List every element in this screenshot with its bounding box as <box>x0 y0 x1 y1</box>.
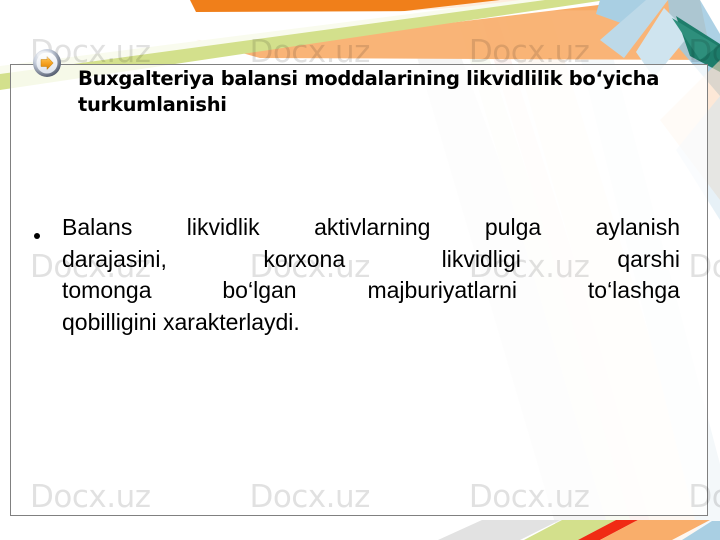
body-text: Balanslikvidlikaktivlarningpulgaaylanish… <box>62 212 680 338</box>
body-word: qarshi <box>617 244 680 276</box>
band-bottom-blue-2 <box>682 521 720 540</box>
body-line: qobilligini xarakterlaydi. <box>62 307 680 339</box>
body-word: likvidlik <box>187 212 260 244</box>
body-word: darajasini, <box>62 244 167 276</box>
wedge-blue-2 <box>600 0 668 58</box>
body-bullet-item: Balanslikvidlikaktivlarningpulgaaylanish… <box>34 212 680 338</box>
body-word: aktivlarning <box>314 212 430 244</box>
body-word: to‘lashga <box>588 275 680 307</box>
body-word: likvidligi <box>442 244 521 276</box>
body-word: tomonga <box>62 275 152 307</box>
band-bottom-orange <box>600 520 710 540</box>
body-word: majburiyatlarni <box>367 275 517 307</box>
body-word: pulga <box>485 212 541 244</box>
band-top-white-wedge <box>150 0 640 48</box>
band-top-orange-dark <box>190 0 660 12</box>
slide-title: Buxgalteriya balansi moddalarining likvi… <box>78 66 690 118</box>
body-line: tomongabo‘lganmajburiyatlarnito‘lashga <box>62 275 680 307</box>
band-bottom-green <box>524 520 616 540</box>
body-word: aylanish <box>596 212 680 244</box>
band-bottom-red <box>578 520 638 540</box>
body-line: darajasini,korxonalikvidligiqarshi <box>62 244 680 276</box>
body-word: korxona <box>263 244 345 276</box>
arrow-right-circle-icon <box>32 48 62 78</box>
wedge-blue-1 <box>596 0 660 30</box>
band-bottom-blue <box>684 520 720 540</box>
wedge-teal-sliver <box>672 18 718 60</box>
body-line: Balanslikvidlikaktivlarningpulgaaylanish <box>62 212 680 244</box>
band-top-green-white <box>0 0 545 74</box>
slide-canvas: Docx.uz Docx.uz Docx.uz Docx.uz Docx.uz … <box>0 0 720 540</box>
band-top-orange-light <box>196 0 712 60</box>
bullet-marker <box>34 212 62 243</box>
body-word: Balans <box>62 212 132 244</box>
body-word: bo‘lgan <box>222 275 296 307</box>
band-bottom-gray <box>438 520 560 540</box>
